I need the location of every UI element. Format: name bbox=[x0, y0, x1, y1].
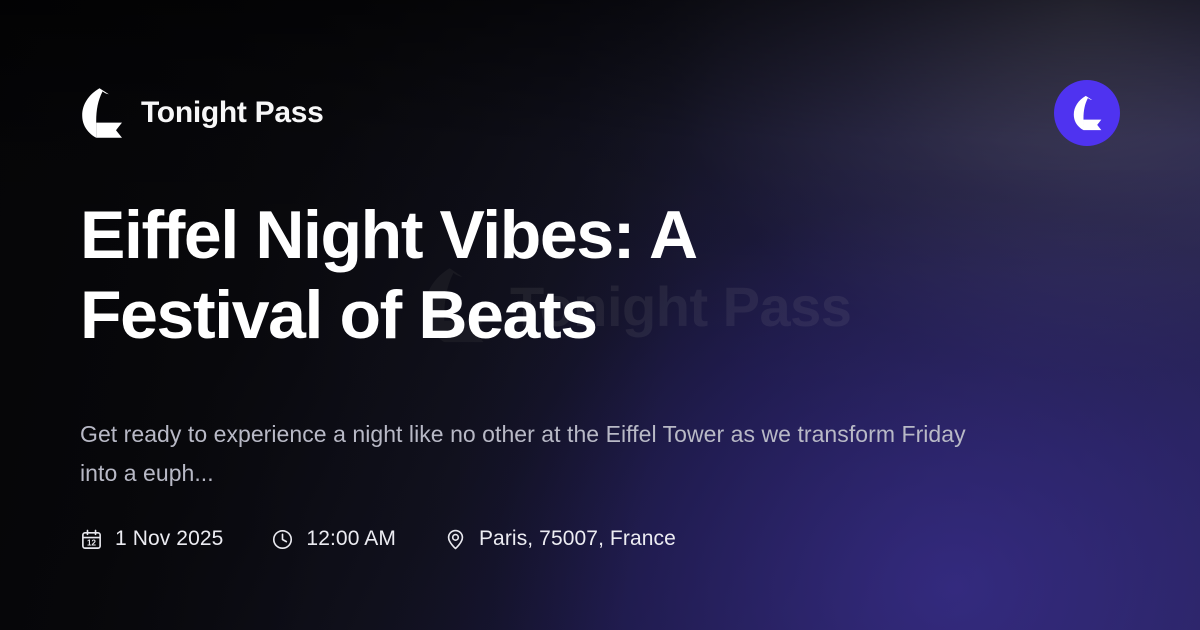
brand: Tonight Pass bbox=[80, 87, 324, 139]
svg-text:12: 12 bbox=[87, 538, 96, 547]
card-header: Tonight Pass bbox=[80, 78, 1120, 148]
brand-badge bbox=[1054, 80, 1120, 146]
calendar-icon: 12 bbox=[80, 528, 103, 551]
clock-icon bbox=[271, 528, 294, 551]
location-pin-icon bbox=[444, 528, 467, 551]
event-time: 12:00 AM bbox=[271, 527, 396, 551]
brand-name: Tonight Pass bbox=[141, 96, 324, 130]
event-meta-row: 12 1 Nov 2025 12:00 AM bbox=[80, 527, 1120, 551]
tonight-pass-ribbon-logo-icon bbox=[1072, 95, 1103, 131]
event-date-label: 1 Nov 2025 bbox=[115, 527, 223, 551]
event-time-label: 12:00 AM bbox=[306, 527, 396, 551]
event-title: Eiffel Night Vibes: A Festival of Beats bbox=[80, 196, 840, 355]
event-share-card: Tonight Pass Tonight Pass Eiffel Night V… bbox=[0, 0, 1200, 630]
card-content: Eiffel Night Vibes: A Festival of Beats … bbox=[80, 196, 1120, 551]
event-location: Paris, 75007, France bbox=[444, 527, 676, 551]
event-description: Get ready to experience a night like no … bbox=[80, 415, 980, 493]
tonight-pass-ribbon-logo-icon bbox=[80, 87, 124, 139]
event-date: 12 1 Nov 2025 bbox=[80, 527, 223, 551]
event-location-label: Paris, 75007, France bbox=[479, 527, 676, 551]
